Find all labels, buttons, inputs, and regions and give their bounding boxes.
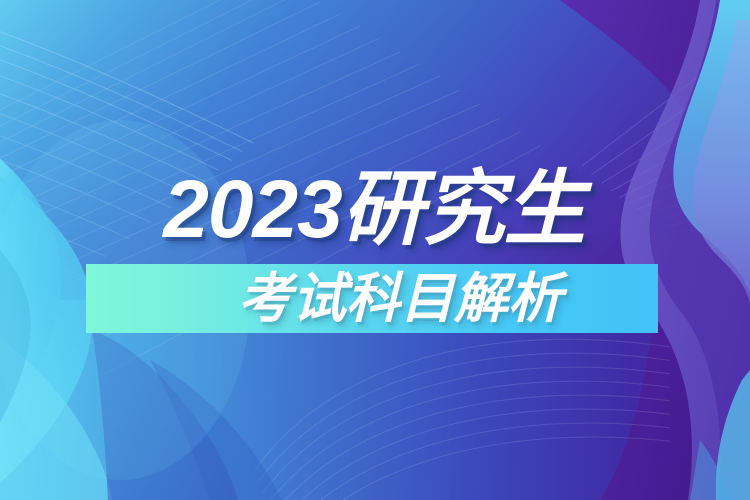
promo-banner: 2023研究生 考试科目解析 — [0, 0, 750, 500]
background-artwork — [0, 0, 750, 500]
subtitle-band — [86, 264, 658, 333]
